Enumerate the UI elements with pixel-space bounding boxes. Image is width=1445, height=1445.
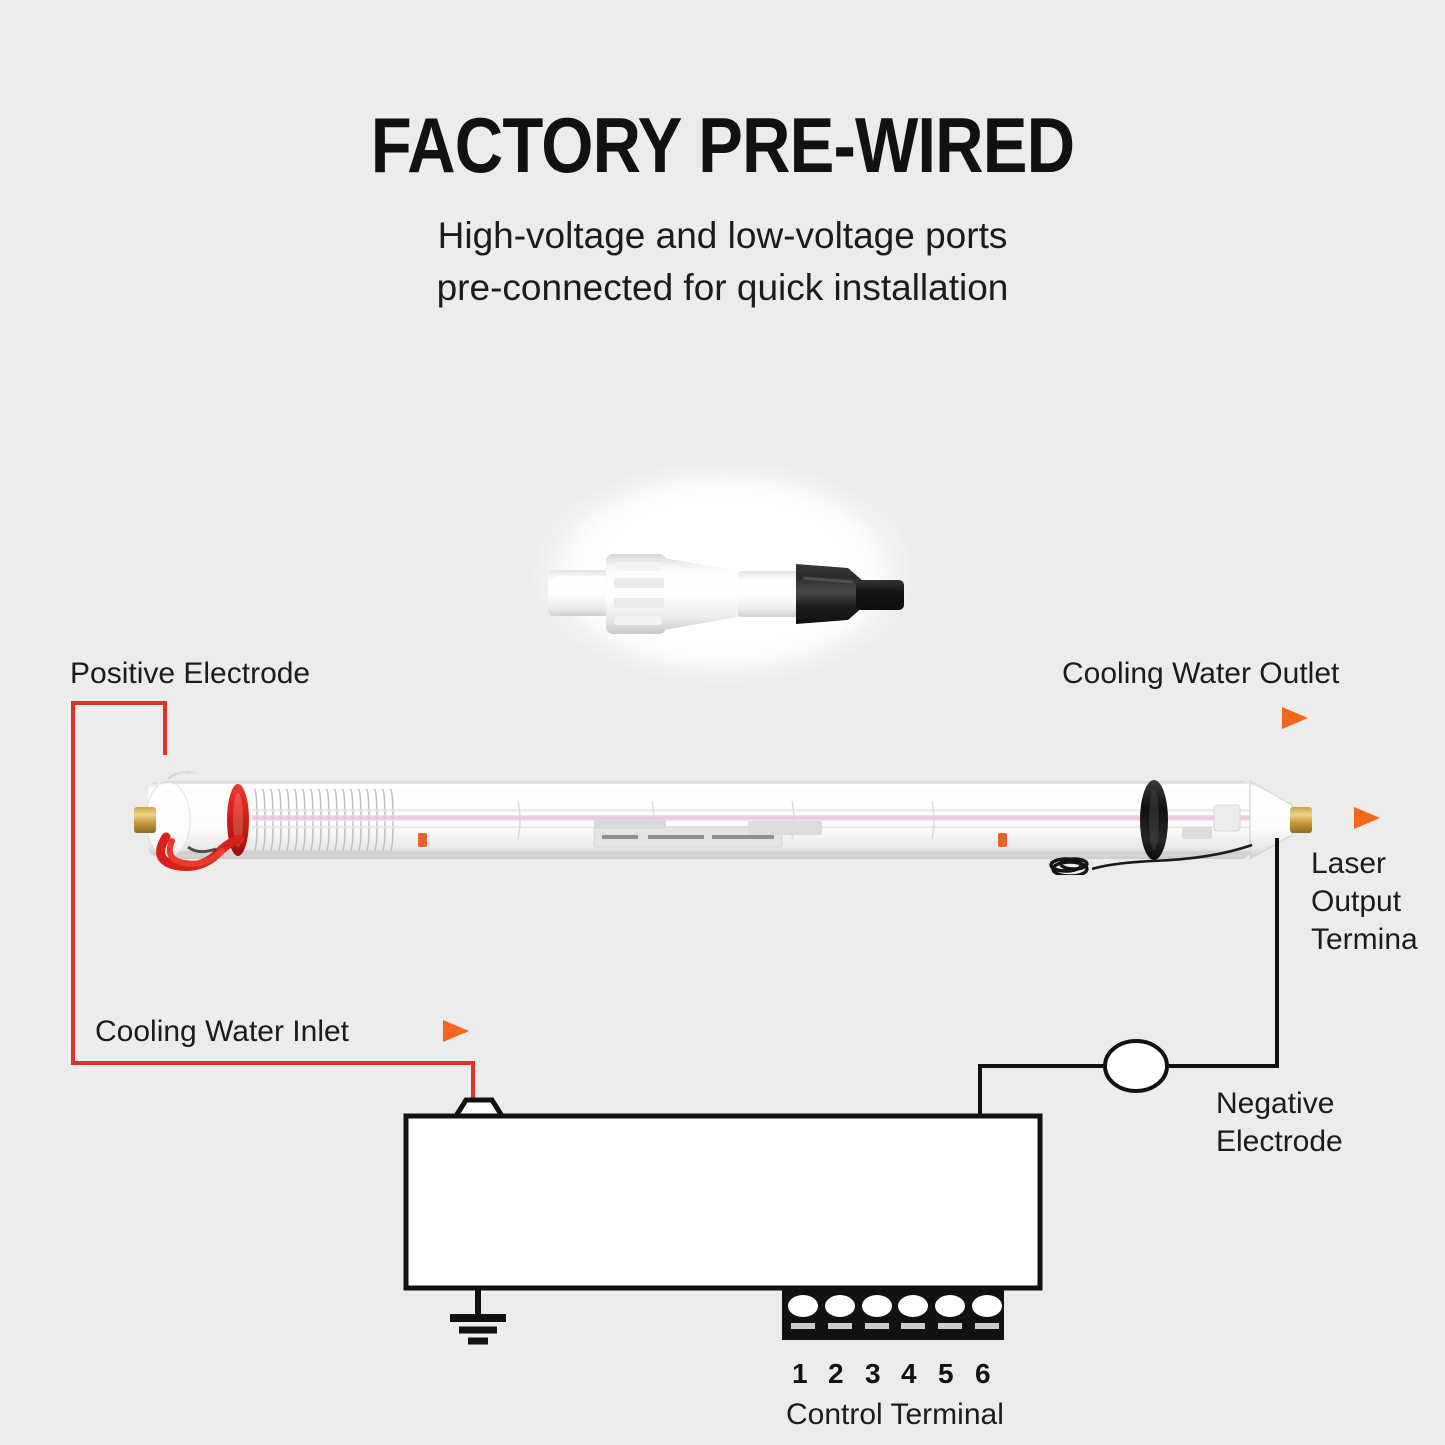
ground-symbol (450, 1288, 506, 1341)
high-voltage-terminal (456, 1100, 502, 1116)
terminal-screw-6 (972, 1295, 1002, 1317)
infographic-canvas: FACTORY PRE-WIRED High-voltage and low-v… (0, 0, 1445, 1445)
arrow-cooling-water-outlet (1232, 707, 1308, 729)
ammeter-symbol (1105, 1041, 1167, 1091)
wiring-schematic (0, 0, 1445, 1445)
red-high-voltage-wire (73, 703, 473, 1110)
arrow-laser-output (1313, 807, 1380, 829)
control-terminal-block (782, 1288, 1004, 1340)
laser-power-supply-box (406, 1100, 1040, 1288)
terminal-screw-5 (935, 1295, 965, 1317)
arrow-cooling-water-inlet (395, 1020, 469, 1042)
terminal-screw-1 (788, 1295, 818, 1317)
terminal-screw-2 (825, 1295, 855, 1317)
terminal-screw-4 (898, 1295, 928, 1317)
terminal-screw-3 (862, 1295, 892, 1317)
